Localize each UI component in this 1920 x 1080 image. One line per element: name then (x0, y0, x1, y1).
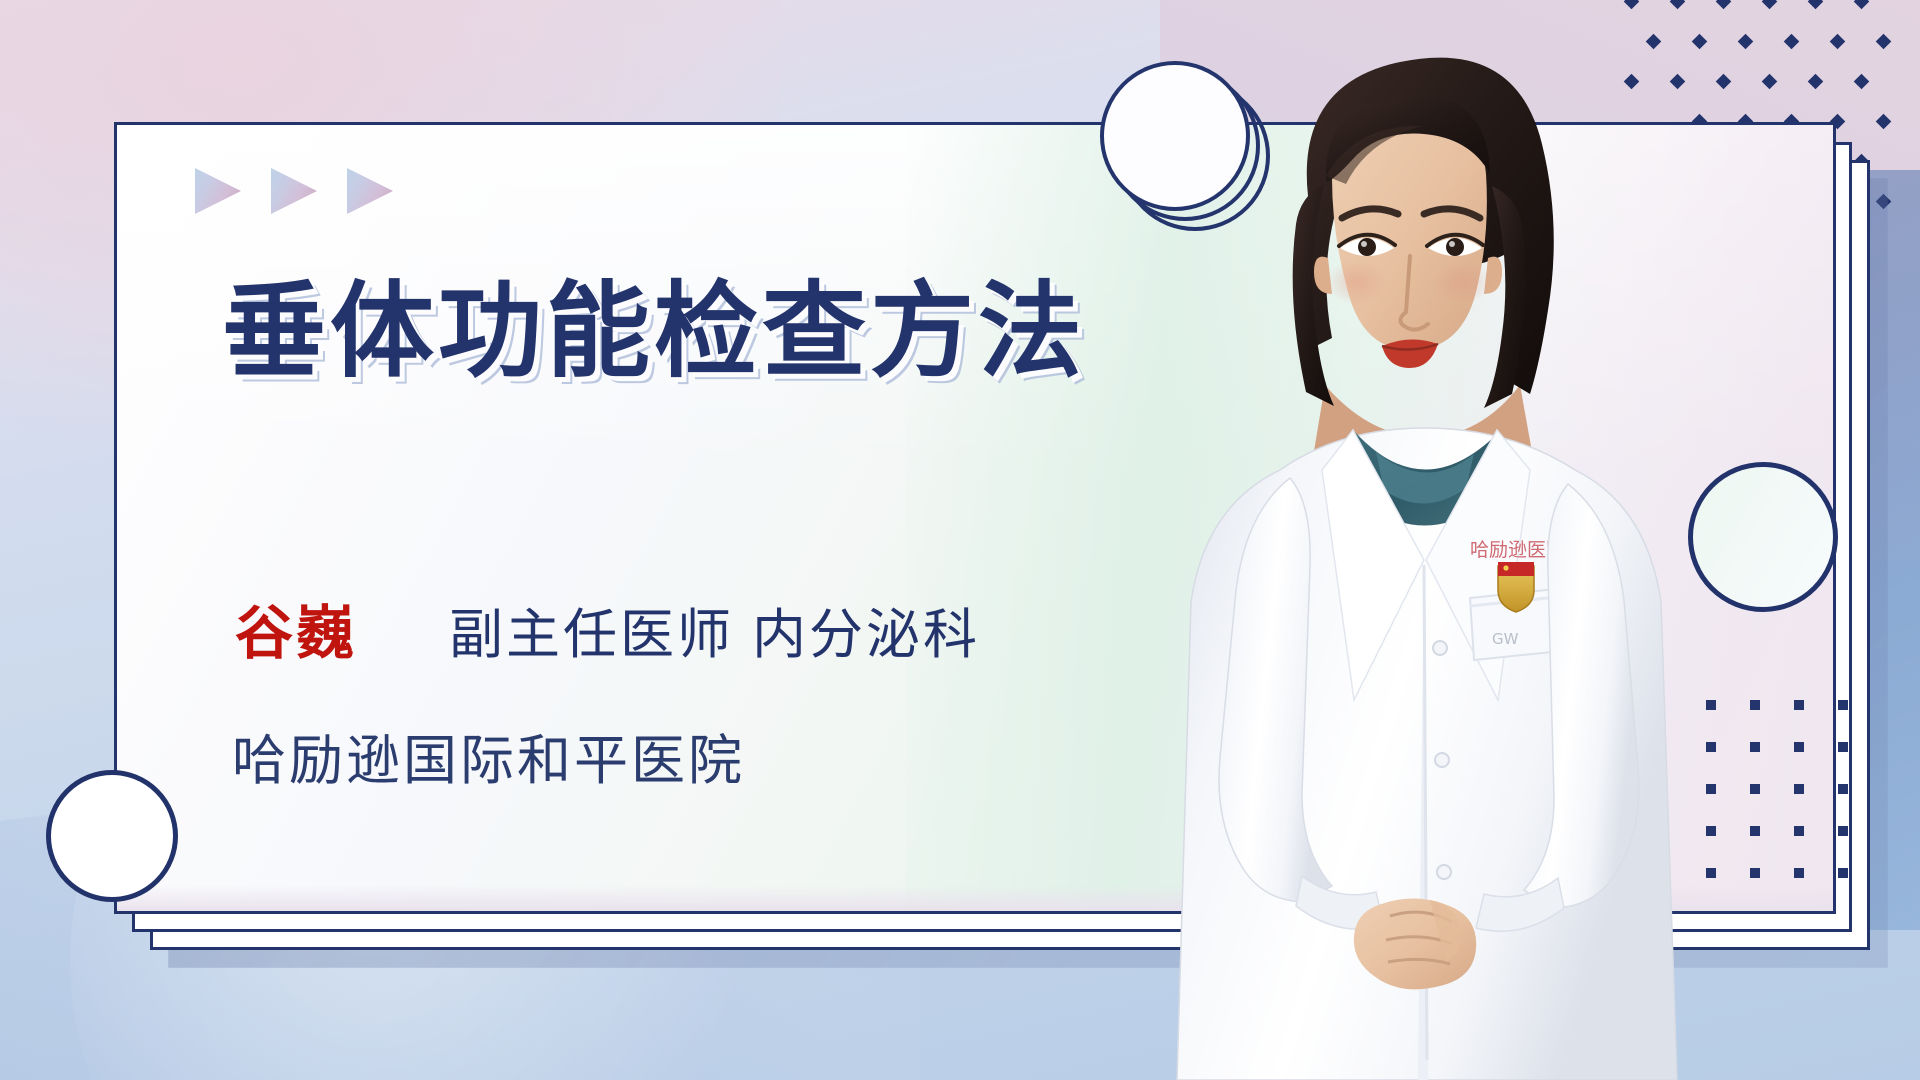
square-dot (1794, 700, 1804, 710)
square-dot (1838, 742, 1848, 752)
doctor-portrait: GW 哈励逊医院 (1140, 0, 1680, 1080)
square-dot (1750, 868, 1760, 878)
presenter-hospital: 哈励逊国际和平医院 (232, 716, 745, 795)
square-dot (1706, 700, 1716, 710)
circle-outline-bottom-left-icon (46, 770, 178, 902)
square-dot (1838, 700, 1848, 710)
page-title: 垂体功能检查方法 (222, 246, 1086, 397)
play-triangle-icon (195, 168, 241, 214)
doctor-illustration: GW 哈励逊医院 (1140, 0, 1680, 1080)
pocket-initials: GW (1492, 630, 1519, 648)
square-dot (1794, 742, 1804, 752)
square-dot-pattern-icon (1706, 700, 1896, 900)
square-dot (1794, 868, 1804, 878)
square-dot (1706, 826, 1716, 836)
square-dot (1838, 826, 1848, 836)
coat-button (1433, 641, 1447, 655)
square-dot (1838, 784, 1848, 794)
square-dot (1750, 826, 1760, 836)
lapel-badge-icon (1498, 562, 1534, 612)
presenter-row: 谷巍 副主任医师 内分泌科 (235, 586, 980, 670)
square-dot (1750, 700, 1760, 710)
square-dot (1706, 784, 1716, 794)
circle-outline-right-icon (1688, 462, 1838, 612)
presenter-name: 谷巍 (235, 586, 357, 670)
coat-button (1437, 865, 1451, 879)
presenter-title-and-department: 副主任医师 内分泌科 (449, 590, 980, 669)
square-dot (1794, 826, 1804, 836)
play-triangle-icon (271, 168, 317, 214)
square-dot (1838, 868, 1848, 878)
square-dot (1750, 784, 1760, 794)
square-dot (1706, 868, 1716, 878)
play-triangle-icon (347, 168, 393, 214)
square-dot (1706, 742, 1716, 752)
coat-button (1435, 753, 1449, 767)
slide-canvas: 垂体功能检查方法 谷巍 副主任医师 内分泌科 哈励逊国际和平医院 (0, 0, 1920, 1080)
arrow-triangles-group (195, 168, 393, 214)
mouth (1382, 339, 1438, 368)
square-dot (1794, 784, 1804, 794)
square-dot (1750, 742, 1760, 752)
